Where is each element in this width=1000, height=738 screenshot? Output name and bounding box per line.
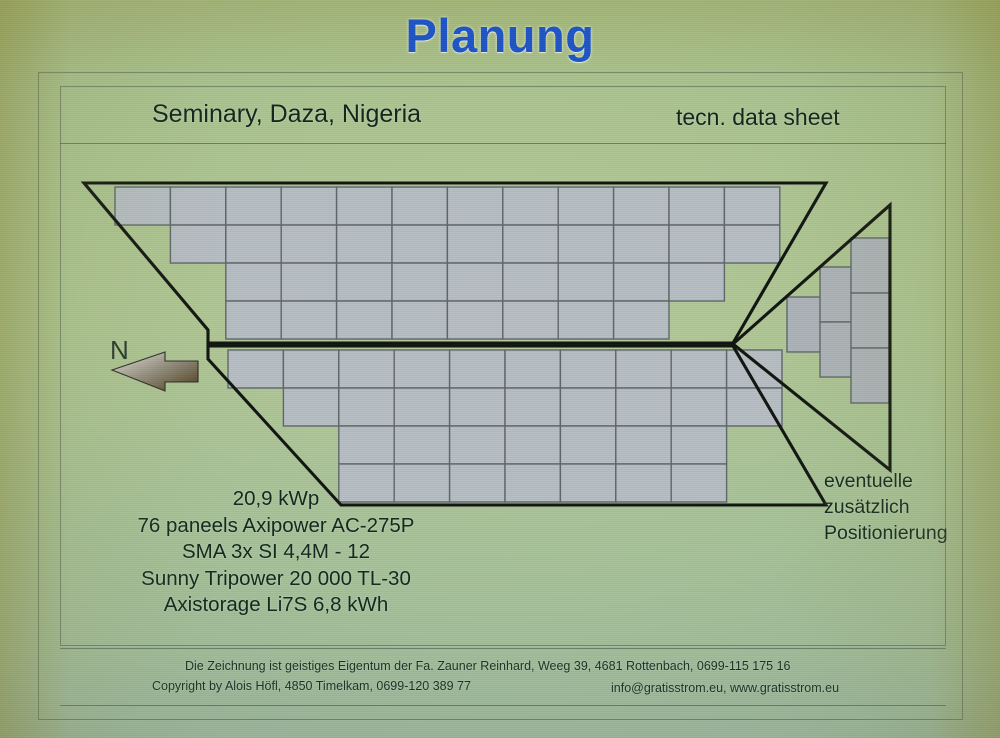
presentation-slide: Planung Seminary, Daza, Nigeria tecn. da… (0, 0, 1000, 738)
spec-line: 20,9 kWp (96, 486, 456, 513)
optional-panel-group (787, 238, 889, 403)
footer-copyright-notice: Die Zeichnung ist geistiges Eigentum der… (185, 659, 790, 673)
optional-position-annotation: eventuelle zusätzlich Positionierung (824, 468, 994, 546)
panel-row (115, 187, 780, 225)
panel-row (228, 350, 782, 388)
header-divider (60, 143, 946, 144)
footer-contact: info@gratisstrom.eu, www.gratisstrom.eu (611, 681, 839, 695)
panel-row (226, 301, 669, 339)
page-title: Planung (0, 8, 1000, 63)
roof-layout-drawing (60, 160, 960, 520)
footer-divider-top (60, 648, 946, 649)
spec-line: Axistorage Li7S 6,8 kWh (96, 592, 456, 619)
spec-line: SMA 3x SI 4,4M - 12 (96, 539, 456, 566)
panel-row (339, 426, 727, 464)
compass-north-label: N (110, 335, 129, 366)
upper-panel-array (115, 187, 780, 339)
screenshot-stage: Planung Seminary, Daza, Nigeria tecn. da… (0, 0, 1000, 738)
annotation-line: eventuelle (824, 468, 994, 494)
panel-row (283, 388, 782, 426)
spec-line: 76 paneels Axipower AC-275P (96, 513, 456, 540)
panel-row (226, 263, 725, 301)
spec-line: Sunny Tripower 20 000 TL-30 (96, 566, 456, 593)
document-type-label: tecn. data sheet (676, 104, 840, 131)
annotation-line: zusätzlich (824, 494, 994, 520)
project-location-label: Seminary, Daza, Nigeria (152, 100, 421, 129)
footer-author: Copyright by Alois Höfl, 4850 Timelkam, … (152, 679, 471, 693)
footer-divider-bottom (60, 705, 946, 706)
lower-panel-array (228, 350, 782, 502)
annotation-line: Positionierung (824, 520, 994, 546)
panel-row (170, 225, 779, 263)
system-spec-list: 20,9 kWp 76 paneels Axipower AC-275P SMA… (96, 486, 456, 619)
